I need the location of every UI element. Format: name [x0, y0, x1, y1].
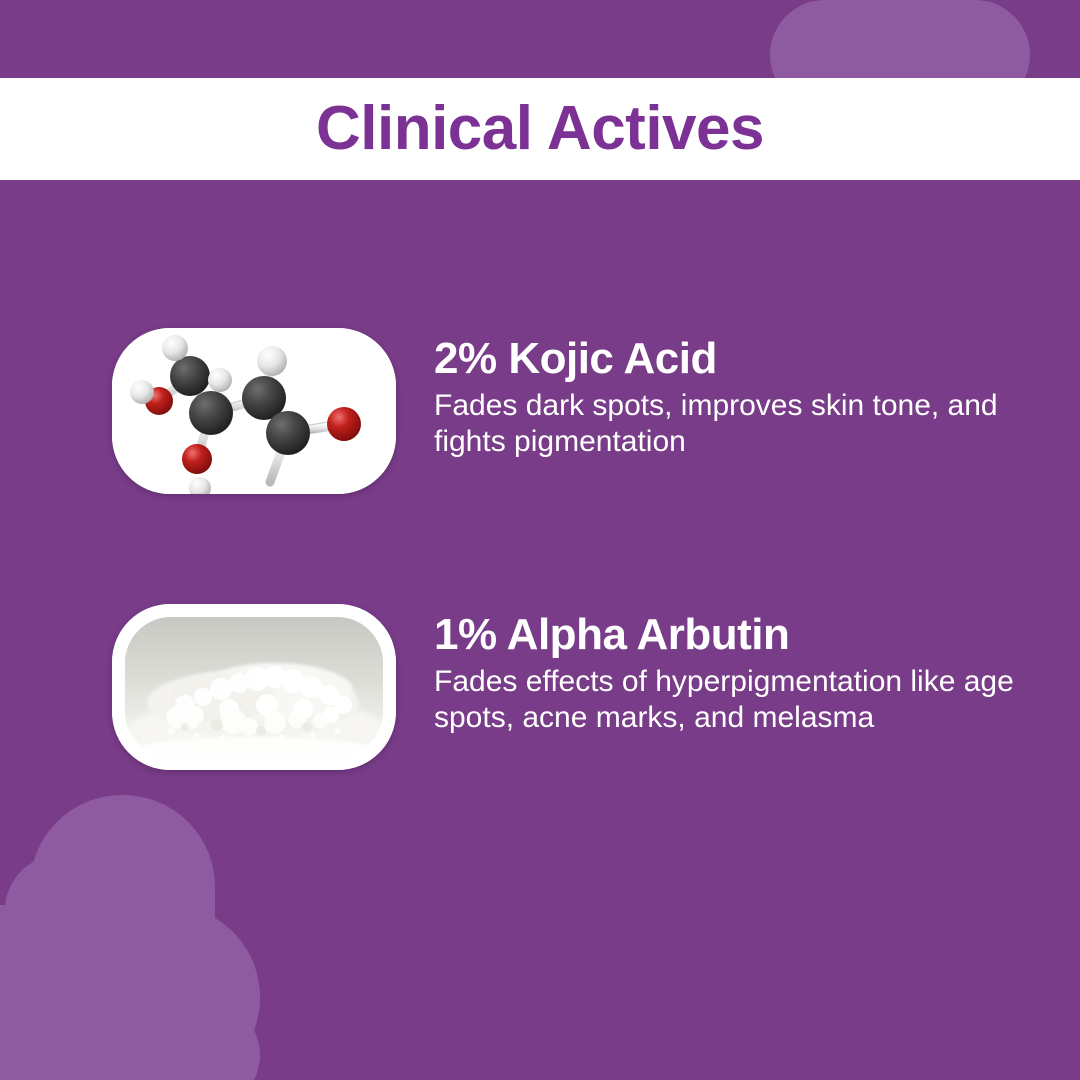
cross-vertical-bar — [30, 795, 215, 1080]
ingredient-row-alpha-arbutin: 1% Alpha Arbutin Fades effects of hyperp… — [112, 604, 1034, 770]
cross-horizontal-bar — [0, 905, 260, 1080]
cross-shape-top-right-icon — [770, 0, 1030, 80]
ingredient-description: Fades dark spots, improves skin tone, an… — [434, 388, 1034, 460]
header-banner: Clinical Actives — [0, 78, 1080, 180]
kojic-acid-molecule-image — [112, 328, 396, 494]
photo-inner — [125, 617, 383, 757]
powder-photo-icon — [125, 617, 383, 757]
page-title: Clinical Actives — [316, 98, 764, 160]
alpha-arbutin-powder-image — [112, 604, 396, 770]
ingredient-description: Fades effects of hyperpigmentation like … — [434, 664, 1034, 736]
cross-vertical-bar — [845, 0, 955, 80]
molecule-diagram-icon — [112, 328, 396, 494]
ingredient-name: 2% Kojic Acid — [434, 336, 1034, 382]
photo-frame — [112, 604, 396, 770]
ingredient-name: 1% Alpha Arbutin — [434, 612, 1034, 658]
cross-vertical-bar — [5, 855, 115, 1080]
clinical-actives-infographic: Clinical Actives — [0, 0, 1080, 1080]
ingredient-text-alpha-arbutin: 1% Alpha Arbutin Fades effects of hyperp… — [434, 604, 1034, 736]
ingredient-text-kojic-acid: 2% Kojic Acid Fades dark spots, improves… — [434, 328, 1034, 460]
cross-shape-bottom-left-large-icon — [0, 855, 260, 1080]
cross-shape-bottom-left-small-icon — [0, 795, 260, 1080]
ingredient-row-kojic-acid: 2% Kojic Acid Fades dark spots, improves… — [112, 328, 1034, 494]
cross-horizontal-bar — [0, 1000, 260, 1080]
